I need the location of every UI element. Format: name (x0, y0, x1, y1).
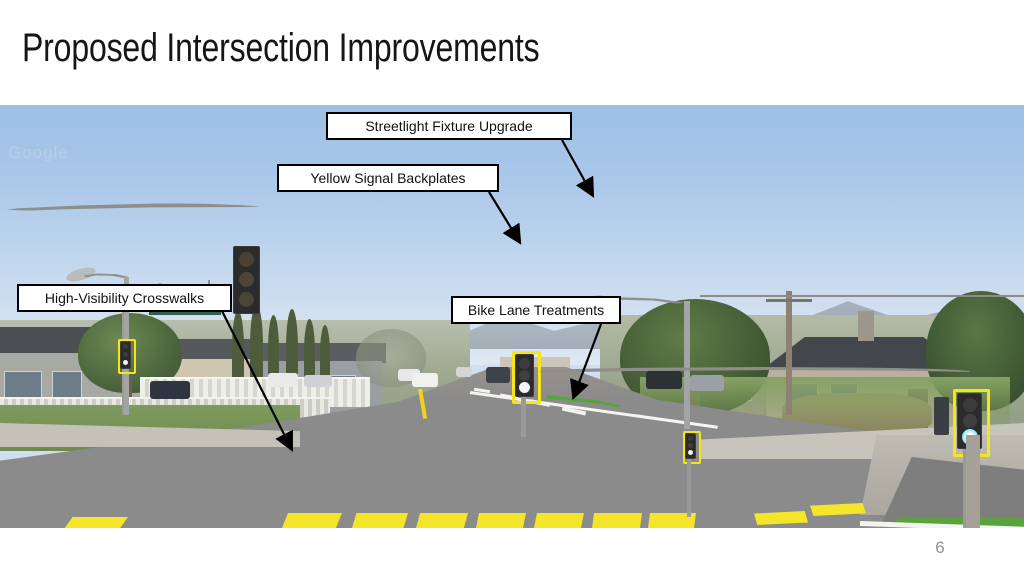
callout-label: Bike Lane Treatments (468, 302, 604, 318)
vehicle-parked-right (690, 375, 724, 391)
crosswalk-bar (476, 513, 526, 528)
signal-pole-median (687, 459, 691, 517)
callout-label: Streetlight Fixture Upgrade (365, 118, 532, 134)
crosswalk-bar (282, 513, 342, 528)
callout-streetlight-fixture-upgrade[interactable]: Streetlight Fixture Upgrade (326, 112, 572, 140)
callout-label: Yellow Signal Backplates (310, 170, 465, 186)
signal-pole-center (521, 397, 526, 437)
utility-pole-right (786, 291, 792, 415)
cypress-tree (250, 305, 263, 387)
vehicle-near-lane (412, 373, 438, 387)
traffic-signal-head-mast (233, 246, 260, 314)
vehicle-parked-left (268, 373, 298, 387)
crosswalk-bar (592, 513, 642, 528)
crosswalk-bar (62, 517, 128, 528)
streetlight-pole-right (684, 301, 690, 429)
callout-high-visibility-crosswalks[interactable]: High-Visibility Crosswalks (17, 284, 232, 312)
yellow-signal-backplate-left (118, 339, 136, 374)
callout-label: High-Visibility Crosswalks (45, 290, 204, 306)
yellow-signal-backplate-median (683, 431, 701, 464)
callout-bike-lane-treatments[interactable]: Bike Lane Treatments (451, 296, 621, 324)
chimney-right (858, 311, 874, 341)
vehicle-driveway-left (150, 381, 190, 399)
vehicle-parked-right (646, 371, 682, 389)
vehicle-parked-left (304, 375, 332, 387)
overhead-wire (700, 295, 1024, 297)
crosswalk-bar (352, 513, 408, 528)
callout-yellow-signal-backplates[interactable]: Yellow Signal Backplates (277, 164, 499, 192)
signal-lens-yellow (239, 272, 254, 287)
google-watermark: Google (8, 143, 69, 163)
traffic-signal-head-right-secondary (934, 397, 949, 435)
crosswalk-bar (534, 513, 584, 528)
slide-page-number: 6 (928, 538, 952, 558)
signal-lens-red (239, 252, 254, 267)
crosswalk-bar (416, 513, 468, 528)
utility-pole-foreground-right (966, 435, 980, 528)
utility-crossarm (766, 299, 812, 302)
page-title: Proposed Intersection Improvements (22, 26, 539, 70)
slide: Proposed Intersection Improvements Googl… (0, 0, 1024, 575)
yellow-signal-backplate-center (512, 351, 541, 404)
vehicle-distant (486, 367, 510, 383)
signal-lens-green (239, 292, 254, 307)
cypress-tree (232, 311, 244, 385)
vehicle-distant (456, 367, 472, 377)
